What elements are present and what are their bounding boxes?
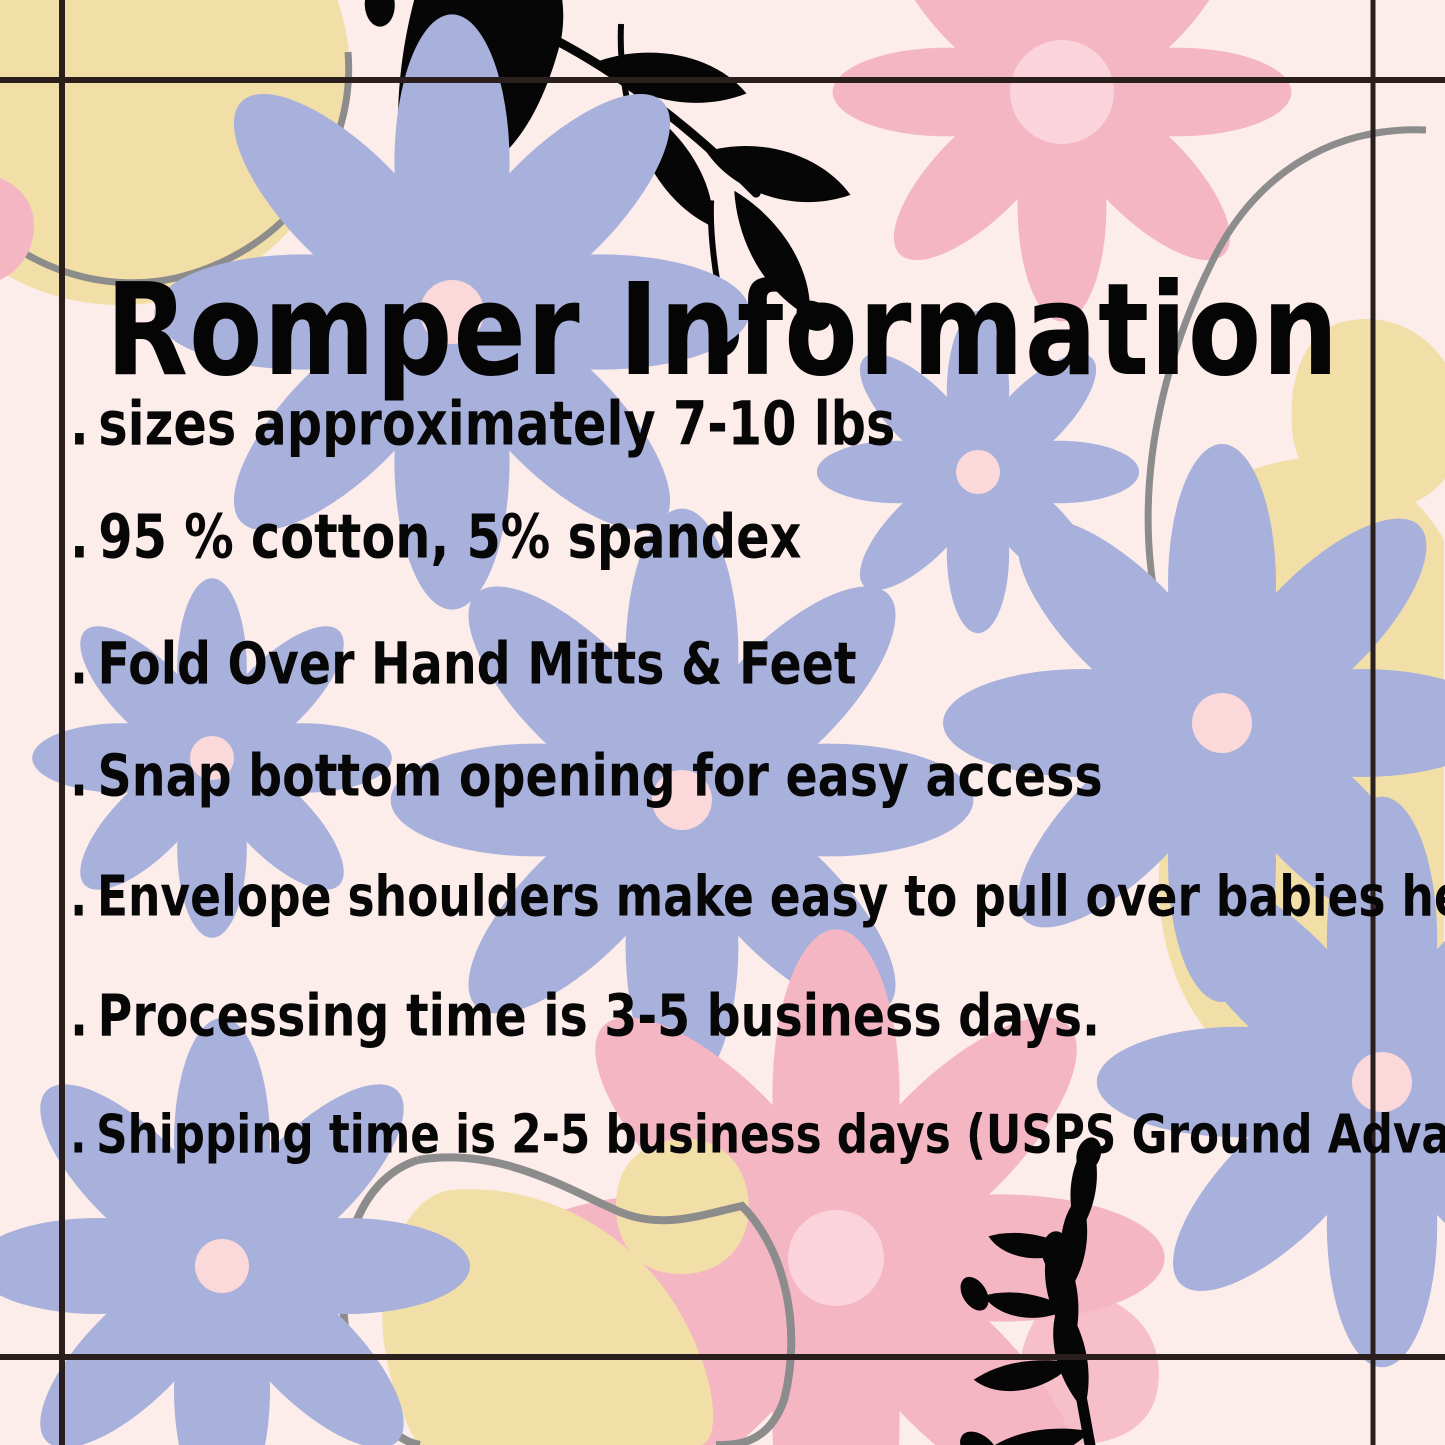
list-item: .Envelope shoulders make easy to pull ov… bbox=[70, 865, 1445, 930]
list-item: .Processing time is 3-5 business days. bbox=[70, 982, 1100, 1049]
list-item-label: Shipping time is 2-5 business days (USPS… bbox=[96, 1103, 1445, 1166]
bullet-marker: . bbox=[70, 1103, 87, 1166]
list-item-label: Envelope shoulders make easy to pull ove… bbox=[97, 865, 1445, 930]
bullet-marker: . bbox=[70, 503, 89, 573]
list-item: .Snap bottom opening for easy access bbox=[70, 742, 1103, 809]
list-item: .Shipping time is 2-5 business days (USP… bbox=[70, 1103, 1445, 1166]
bullet-marker: . bbox=[70, 865, 87, 930]
romper-information-poster: Romper Information .sizes approximately … bbox=[0, 0, 1445, 1445]
bullet-marker: . bbox=[70, 982, 88, 1049]
list-item-label: Fold Over Hand Mitts & Feet bbox=[98, 630, 857, 697]
bullet-marker: . bbox=[70, 630, 88, 697]
list-item: .Fold Over Hand Mitts & Feet bbox=[70, 630, 857, 697]
list-item-label: sizes approximately 7-10 lbs bbox=[98, 390, 895, 460]
list-item-label: 95 % cotton, 5% spandex bbox=[98, 503, 801, 573]
bullet-marker: . bbox=[70, 742, 88, 809]
list-item-label: Processing time is 3-5 business days. bbox=[98, 982, 1100, 1049]
bullet-marker: . bbox=[70, 390, 89, 460]
list-item: .95 % cotton, 5% spandex bbox=[70, 503, 802, 573]
list-item-label: Snap bottom opening for easy access bbox=[98, 742, 1103, 809]
page-title: Romper Information bbox=[7, 268, 1438, 395]
list-item: .sizes approximately 7-10 lbs bbox=[70, 390, 895, 460]
